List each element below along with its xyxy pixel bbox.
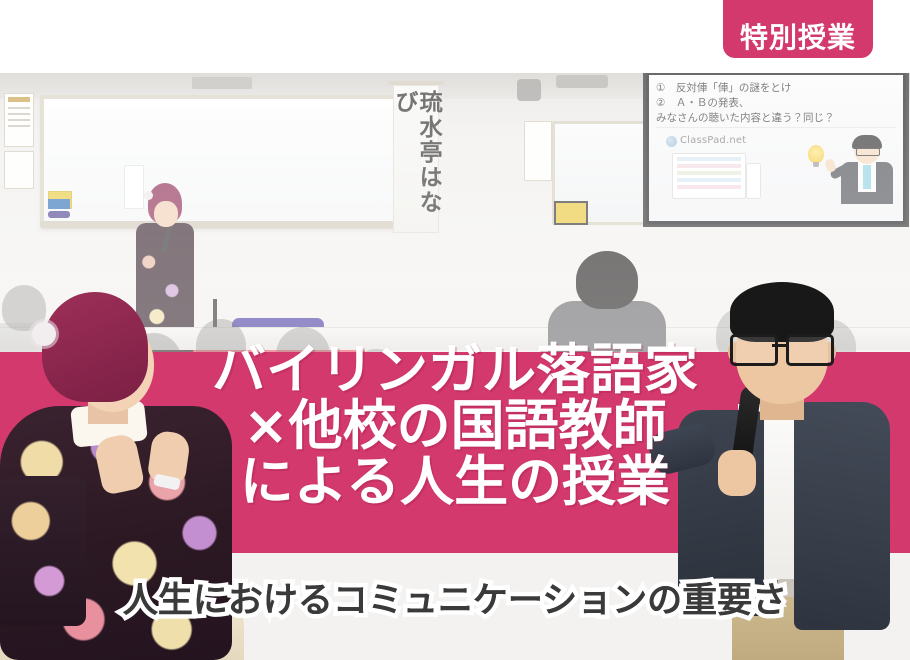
wall-poster-heading: [8, 97, 30, 102]
teacher-back-head: [576, 251, 638, 309]
stage-prop-cushion: [48, 211, 70, 218]
glasses-lens-right: [786, 334, 834, 366]
illustration-hair: [852, 135, 882, 149]
ceiling-vent-secondary-icon: [556, 75, 608, 88]
classpad-logo-text: ClassPad.net: [680, 135, 746, 146]
laptop-screen-row: [677, 171, 741, 175]
wall-poster-line: [8, 119, 30, 121]
slide-line-3: みなさんの聴いた内容と違う？同じ？: [656, 111, 896, 126]
caution-sign-icon: [554, 201, 588, 225]
slide-line-2: ② Ａ・Ｂの発表、: [656, 96, 896, 111]
lightbulb-icon: [808, 145, 824, 163]
performer-kimono-sleeve: [0, 476, 86, 626]
classpad-logo-icon: [666, 136, 677, 147]
wall-poster-line: [8, 125, 30, 127]
performer-hair: [42, 292, 148, 402]
wall-poster-primary: [4, 93, 34, 147]
ceiling-speaker-icon: [517, 79, 541, 101]
stage-performer-hair-flower: [144, 191, 153, 200]
rakugo-name-banner: 琉水亭はなび: [393, 85, 439, 233]
illustration-tie: [863, 165, 871, 189]
rakugo-name-banner-text: 琉水亭はなび: [392, 90, 440, 232]
teacher-illustration-icon: [838, 137, 896, 203]
glasses-lens-left: [730, 334, 778, 366]
wall-poster-line: [8, 107, 30, 109]
wall-poster-line: [8, 113, 30, 115]
slide-line-1: ① 反対俥「俥」の謎をとけ: [656, 81, 896, 96]
teacher-jacket-right: [794, 402, 890, 630]
wall-poster-right: [524, 121, 552, 181]
teacher-hand: [718, 450, 756, 496]
glasses-bridge: [772, 344, 786, 347]
slide-divider: [656, 127, 896, 128]
glasses-icon: [730, 334, 834, 360]
ceiling-vent-icon: [192, 77, 252, 89]
teacher-cutout: [672, 282, 904, 660]
slide-body: ClassPad.net: [656, 133, 896, 215]
whiteboard-main: [40, 95, 424, 229]
illustration-glasses-icon: [856, 148, 880, 156]
laptop-screen-row: [677, 178, 741, 182]
stage-prop-card-blue: [48, 199, 70, 209]
performer-hair-flower: [32, 322, 56, 346]
rakugo-performer-cutout: [0, 286, 244, 660]
laptop-screen-row: [677, 157, 741, 161]
teacher-hair: [730, 282, 834, 342]
laptop-screen-row: [677, 185, 741, 189]
laptop-screen-row: [677, 164, 741, 168]
poster-canvas: 特別授業: [0, 0, 910, 660]
special-class-badge-label: 特別授業: [740, 24, 856, 52]
special-class-badge: 特別授業: [723, 0, 873, 58]
wall-poster-secondary: [4, 151, 34, 189]
projector-screen: ① 反対俥「俥」の謎をとけ ② Ａ・Ｂの発表、 みなさんの聴いた内容と違う？同じ…: [643, 73, 909, 227]
laptop-illustration-icon: [672, 153, 746, 199]
projector-screen-inner: ① 反対俥「俥」の謎をとけ ② Ａ・Ｂの発表、 みなさんの聴いた内容と違う？同じ…: [649, 75, 903, 221]
phone-illustration-icon: [746, 163, 761, 199]
